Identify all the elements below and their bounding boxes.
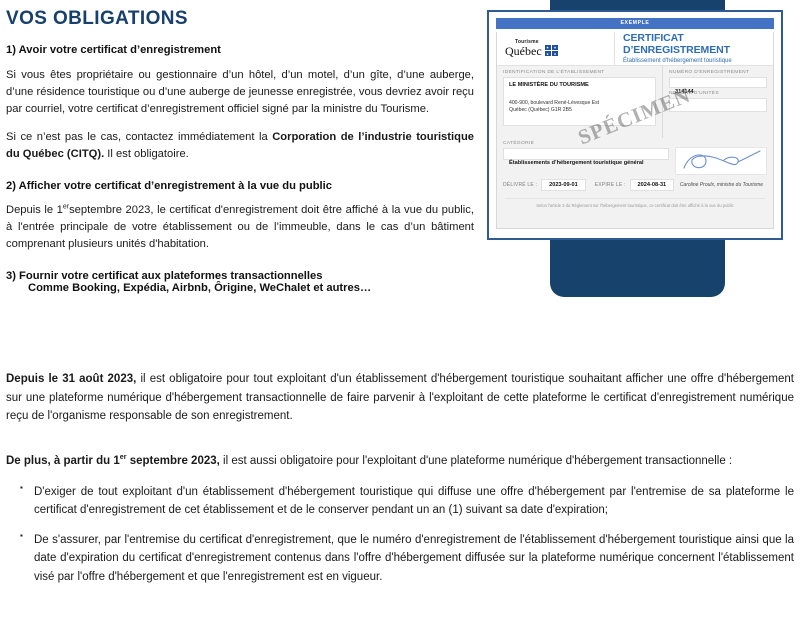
certificate-fields-grid: IDENTIFICATION DE L’ÉTABLISSEMENT LE MIN… bbox=[497, 66, 773, 138]
de-plus-bold-a: De plus, à partir du 1 bbox=[6, 455, 120, 467]
spacer bbox=[6, 438, 794, 452]
logo-quebec-text: Québec bbox=[505, 45, 542, 57]
units-label: NOMBRE D’UNITÉS bbox=[669, 91, 767, 96]
obligation-bullet-list: D'exiger de tout exploitant d'un établis… bbox=[6, 483, 794, 587]
paragraph-obligation-2: Depuis le 1erseptembre 2023, le certific… bbox=[6, 202, 474, 253]
paragraph-obligation-1a: Si vous êtes propriétaire ou gestionnair… bbox=[6, 67, 474, 118]
establishment-address-line1: 400-900, boulevard René-Lévesque Est bbox=[509, 100, 650, 107]
tourisme-quebec-logo: Tourisme Québec bbox=[497, 32, 615, 65]
para2-text-end: septembre 2023, le certificat d'enregist… bbox=[6, 204, 474, 250]
category-value-box: Établissements d’hébergement touristique… bbox=[503, 148, 669, 160]
de-plus-rest: il est aussi obligatoire pour l'exploita… bbox=[220, 455, 732, 467]
since-31-aout-bold: Depuis le 31 août 2023, bbox=[6, 373, 136, 385]
signature-icon bbox=[676, 148, 766, 174]
quebec-flag-icon bbox=[545, 45, 559, 57]
certificate-title: CERTIFICAT D’ENREGISTREMENT bbox=[623, 33, 773, 56]
list-item: D'exiger de tout exploitant d'un établis… bbox=[24, 483, 794, 520]
heading-obligation-1: 1) Avoir votre certificat d’enregistreme… bbox=[6, 43, 474, 58]
registration-number-label: NUMÉRO D’ENREGISTREMENT bbox=[669, 70, 767, 75]
certificate-header: Tourisme Québec CERTIFICAT D’ENREGISTREM… bbox=[497, 32, 773, 66]
paragraph-since-31-aout: Depuis le 31 août 2023, il est obligatoi… bbox=[6, 370, 794, 426]
subheading-obligation-3: Comme Booking, Expédia, Airbnb, Ôrigine,… bbox=[28, 282, 474, 294]
category-value: Établissements d’hébergement touristique… bbox=[509, 160, 644, 166]
de-plus-superscript: er bbox=[120, 453, 127, 461]
certificate-subtitle: Établissement d’hébergement touristique bbox=[623, 58, 773, 64]
expiry-value: 2024-08-31 bbox=[630, 179, 675, 191]
issued-value: 2023-09-01 bbox=[541, 179, 586, 191]
establishment-value-box: LE MINISTÈRE DU TOURISME 400-900, boulev… bbox=[503, 77, 656, 126]
para1b-text-end: Il est obligatoire. bbox=[104, 148, 189, 160]
certificate-example-card: EXEMPLE SPÉCIMEN Tourisme Québec CERTIFI… bbox=[487, 10, 783, 240]
expiry-label: EXPIRE LE : bbox=[595, 182, 626, 188]
full-width-text-block: Depuis le 31 août 2023, il est obligatoi… bbox=[6, 370, 794, 598]
signatory-name: Caroline Proulx, ministre du Tourisme bbox=[680, 182, 767, 188]
certificate-dates-row: DÉLIVRÉ LE : 2023-09-01 EXPIRE LE : 2024… bbox=[497, 175, 773, 191]
list-item: De s'assurer, par l'entremise du certifi… bbox=[24, 531, 794, 587]
certificate-footer-note: Selon l'article 3 du Règlement sur l'héb… bbox=[505, 198, 765, 208]
establishment-label: IDENTIFICATION DE L’ÉTABLISSEMENT bbox=[503, 70, 656, 75]
certificate-body: SPÉCIMEN Tourisme Québec CERTIFICAT D’EN… bbox=[496, 32, 774, 229]
registration-number-box: 314144 bbox=[669, 77, 767, 88]
heading-obligation-2: 2) Afficher votre certificat d’enregistr… bbox=[6, 179, 474, 194]
issued-label: DÉLIVRÉ LE : bbox=[503, 182, 537, 188]
de-plus-bold-b: septembre 2023, bbox=[127, 455, 220, 467]
signature-box bbox=[675, 147, 767, 175]
paragraph-obligation-1b: Si ce n’est pas le cas, contactez immédi… bbox=[6, 129, 474, 163]
paragraph-de-plus: De plus, à partir du 1er septembre 2023,… bbox=[6, 452, 794, 471]
units-value-box bbox=[669, 98, 767, 112]
establishment-address-line2: Québec (Québec) G1R 2B5 bbox=[509, 107, 650, 114]
certificate-category-row: CATÉGORIE Établissements d’hébergement t… bbox=[497, 138, 773, 175]
category-label: CATÉGORIE bbox=[503, 141, 669, 146]
page-title: VOS OBLIGATIONS bbox=[6, 8, 474, 30]
exemple-banner: EXEMPLE bbox=[496, 18, 774, 29]
establishment-name: LE MINISTÈRE DU TOURISME bbox=[509, 82, 650, 88]
left-text-column: VOS OBLIGATIONS 1) Avoir votre certifica… bbox=[6, 8, 474, 305]
para2-text-start: Depuis le 1 bbox=[6, 204, 63, 216]
para1b-text-start: Si ce n’est pas le cas, contactez immédi… bbox=[6, 131, 272, 143]
